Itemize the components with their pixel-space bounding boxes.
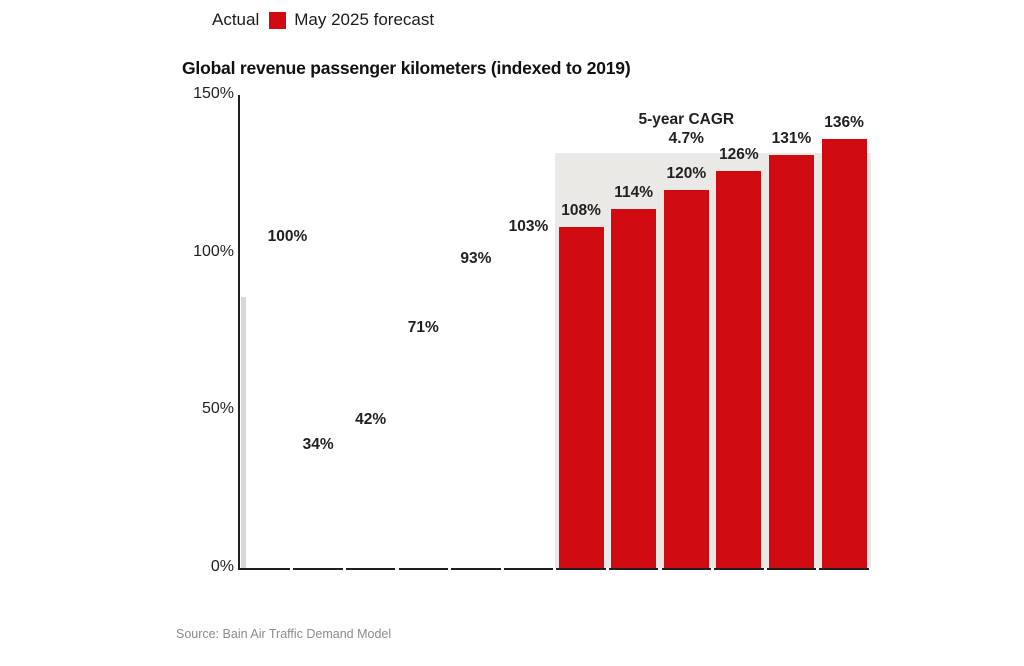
bar-value-label: 34%: [283, 436, 353, 454]
source-note: Source: Bain Air Traffic Demand Model: [176, 627, 391, 641]
bar-value-label: 103%: [494, 218, 564, 236]
cagr-annotation-value: 4.7%: [626, 129, 746, 148]
bar-value-label: 114%: [599, 184, 669, 202]
x-axis-segment: [504, 568, 554, 570]
bar-forecast: [611, 209, 656, 568]
bar-forecast: [559, 227, 604, 568]
bar-forecast: [664, 190, 709, 568]
bar-value-label: 131%: [757, 130, 827, 148]
x-axis-segment: [609, 568, 659, 570]
cagr-annotation: 5-year CAGR 4.7%: [626, 110, 746, 149]
bar-value-label: 71%: [388, 319, 458, 337]
x-axis-segment: [714, 568, 764, 570]
x-axis-segment: [767, 568, 817, 570]
y-axis-line: [238, 95, 240, 568]
x-axis-segment: [399, 568, 449, 570]
y-axis-tick-label: 100%: [176, 243, 234, 261]
bar-value-label: 93%: [441, 250, 511, 268]
x-axis-segment: [556, 568, 606, 570]
cagr-annotation-title: 5-year CAGR: [626, 110, 746, 129]
bar-forecast: [716, 171, 761, 568]
x-axis-origin-tick: [238, 568, 244, 570]
y-axis-tick-label: 150%: [176, 85, 234, 103]
bar-value-label: 108%: [546, 202, 616, 220]
x-axis-segment: [293, 568, 343, 570]
bar-value-label: 120%: [651, 165, 721, 183]
y-axis-tick-label: 50%: [176, 400, 234, 418]
bar-actual: [241, 297, 246, 568]
chart-plot-area: 150%100%50%0% 100%34%42%71%93%103%108%11…: [0, 0, 1024, 666]
y-axis-tick-label: 0%: [176, 558, 234, 576]
bar-value-label: 42%: [336, 411, 406, 429]
x-axis-segment: [819, 568, 869, 570]
x-axis-segment: [346, 568, 396, 570]
bar-value-label: 136%: [809, 114, 879, 132]
bar-forecast: [822, 139, 867, 568]
x-axis-segment: [451, 568, 501, 570]
bar-value-label: 100%: [253, 228, 323, 246]
x-axis-segment: [241, 568, 291, 570]
bar-forecast: [769, 155, 814, 568]
x-axis-segment: [662, 568, 712, 570]
